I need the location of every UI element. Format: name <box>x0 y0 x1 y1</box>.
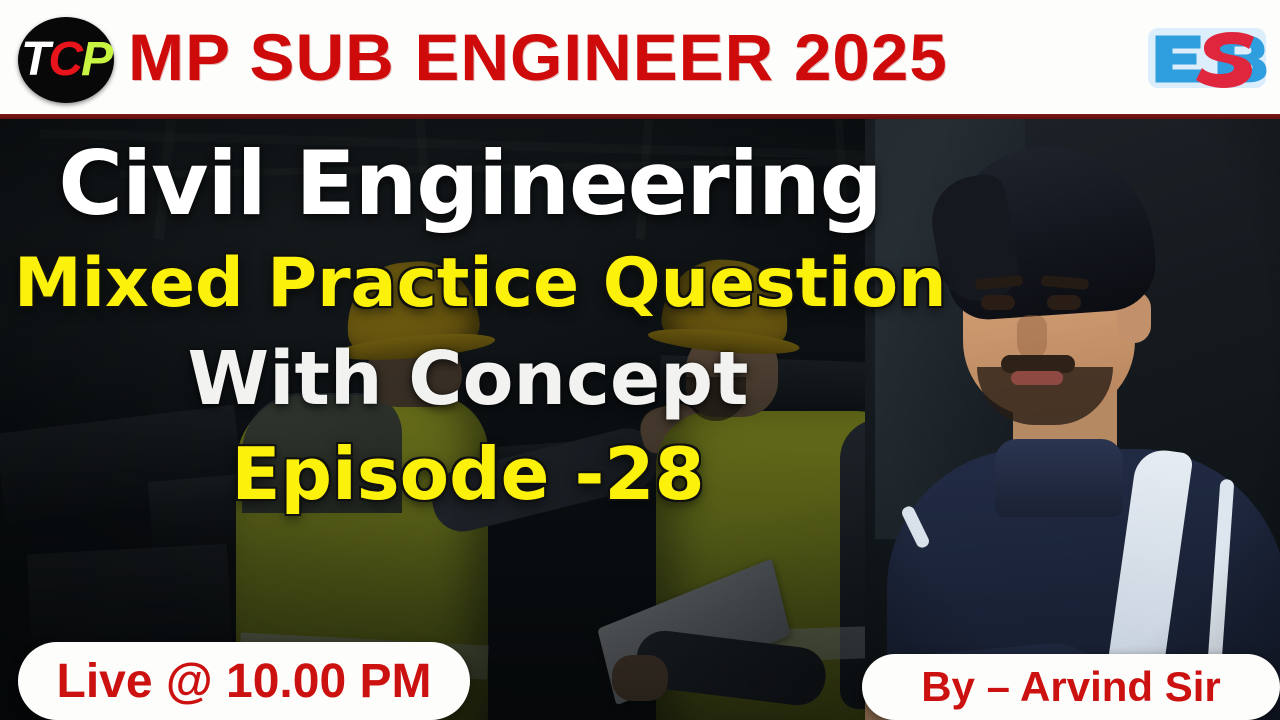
episode-label: Episode -28 <box>6 438 930 510</box>
header-divider <box>0 114 1280 119</box>
esb-logo-icon <box>1146 24 1268 92</box>
tcp-letter-p: P <box>81 36 111 84</box>
tcp-letter-c: C <box>48 36 81 84</box>
page-title: MP SUB ENGINEER 2025 <box>128 24 948 90</box>
presenter-name-badge: By – Arvind Sir <box>862 654 1280 720</box>
course-title: Civil Engineering <box>10 140 930 228</box>
title-text-block: Civil Engineering Mixed Practice Questio… <box>0 140 930 510</box>
tcp-logo-icon: TCP <box>18 17 114 103</box>
header-bar: TCP MP SUB ENGINEER 2025 <box>0 0 1280 114</box>
live-time-label: Live @ 10.00 PM <box>57 654 432 709</box>
live-time-badge: Live @ 10.00 PM <box>18 642 470 720</box>
tcp-letter-t: T <box>21 36 48 84</box>
youtube-thumbnail: Civil Engineering Mixed Practice Questio… <box>0 0 1280 720</box>
presenter-name-label: By – Arvind Sir <box>921 663 1221 711</box>
subtitle-with-concept: With Concept <box>6 342 930 416</box>
subtitle-mixed-practice: Mixed Practice Question <box>14 250 930 318</box>
